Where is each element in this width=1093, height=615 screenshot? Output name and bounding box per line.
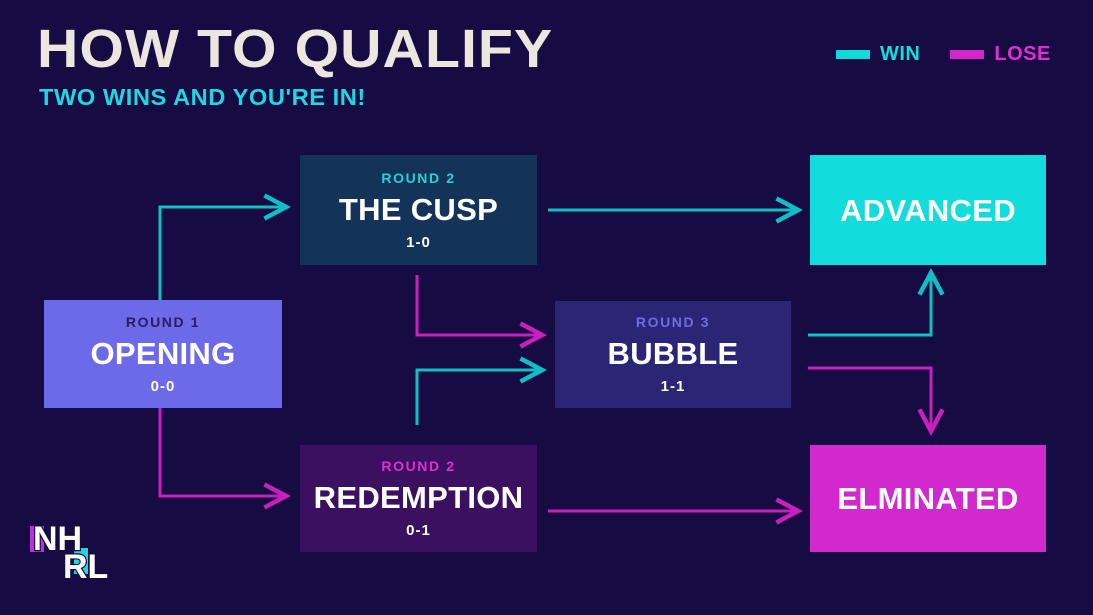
node-opening-title: OPENING bbox=[90, 338, 235, 369]
node-redemption-score: 0-1 bbox=[406, 523, 431, 538]
nhrl-logo: NH RL bbox=[30, 512, 142, 588]
node-the-cusp[interactable]: ROUND 2 THE CUSP 1-0 bbox=[300, 155, 537, 265]
node-opening-round: ROUND 1 bbox=[126, 315, 200, 329]
legend-item-lose: LOSE bbox=[950, 44, 1050, 64]
qualification-flowchart: HOW TO QUALIFY TWO WINS AND YOU'RE IN! W… bbox=[0, 0, 1093, 615]
node-bubble-round: ROUND 3 bbox=[636, 315, 710, 329]
page-subtitle: TWO WINS AND YOU'RE IN! bbox=[39, 86, 366, 109]
node-redemption[interactable]: ROUND 2 REDEMPTION 0-1 bbox=[300, 445, 537, 552]
node-the-cusp-title: THE CUSP bbox=[339, 194, 498, 225]
edge-redemption-bubble bbox=[417, 370, 541, 425]
win-swatch-icon bbox=[836, 50, 870, 59]
node-bubble[interactable]: ROUND 3 BUBBLE 1-1 bbox=[555, 301, 791, 408]
node-redemption-title: REDEMPTION bbox=[314, 482, 524, 513]
lose-swatch-icon bbox=[950, 50, 984, 59]
node-bubble-score: 1-1 bbox=[661, 379, 686, 394]
node-opening[interactable]: ROUND 1 OPENING 0-0 bbox=[44, 300, 282, 408]
node-opening-score: 0-0 bbox=[151, 379, 176, 394]
node-the-cusp-round: ROUND 2 bbox=[381, 171, 455, 185]
node-the-cusp-score: 1-0 bbox=[406, 235, 431, 250]
node-eliminated[interactable]: ELMINATED bbox=[810, 445, 1046, 552]
logo-text-bottom: RL bbox=[63, 548, 108, 586]
node-eliminated-title: ELMINATED bbox=[837, 483, 1018, 514]
node-advanced-title: ADVANCED bbox=[840, 195, 1016, 226]
legend: WIN LOSE bbox=[836, 44, 1051, 64]
page-title: HOW TO QUALIFY bbox=[37, 22, 553, 76]
legend-label-win: WIN bbox=[880, 44, 920, 64]
edge-opening-redemption bbox=[160, 404, 285, 496]
edge-bubble-advanced bbox=[808, 274, 931, 335]
legend-label-lose: LOSE bbox=[994, 44, 1050, 64]
edge-cusp-bubble bbox=[417, 275, 541, 335]
edge-opening-cusp bbox=[160, 207, 285, 312]
edge-bubble-eliminated bbox=[808, 368, 931, 430]
legend-item-win: WIN bbox=[836, 44, 920, 64]
node-bubble-title: BUBBLE bbox=[608, 338, 739, 369]
node-redemption-round: ROUND 2 bbox=[381, 459, 455, 473]
node-advanced[interactable]: ADVANCED bbox=[810, 155, 1046, 265]
